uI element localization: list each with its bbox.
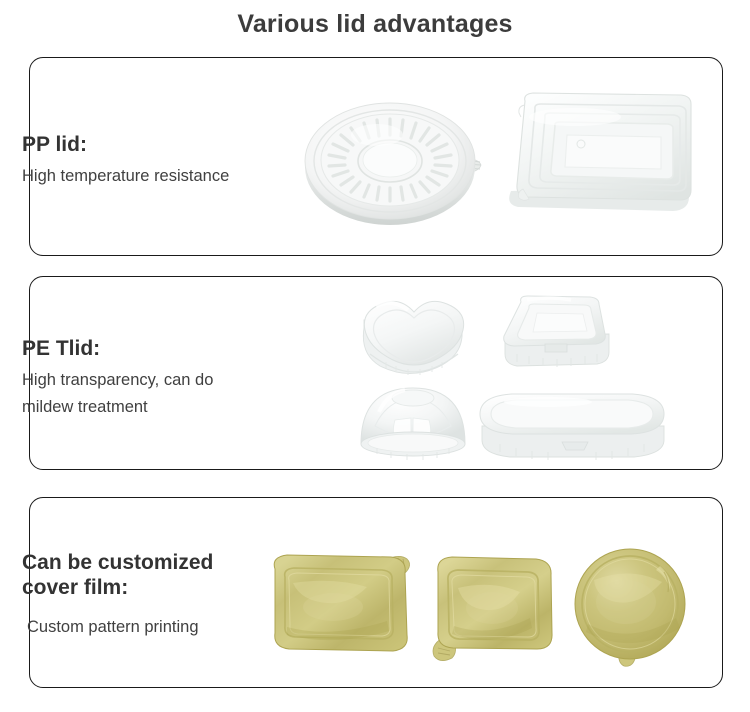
round-gold-foil-lid-image — [568, 546, 700, 671]
page-title: Various lid advantages — [0, 8, 750, 40]
card-pp-lid-description: High temperature resistance — [22, 163, 229, 190]
card-cover-film-text: Can be customized cover film: Custom pat… — [22, 550, 213, 641]
card-cover-film-heading: Can be customized cover film: — [22, 550, 213, 600]
card-pp-lid-heading: PP lid: — [22, 132, 229, 157]
card-pe-tlid-heading: PE Tlid: — [22, 336, 213, 361]
round-pp-lid-image — [305, 95, 495, 230]
square-pet-lid-image — [497, 292, 617, 384]
card-pe-tlid-text: PE Tlid: High transparency, can do milde… — [22, 336, 213, 421]
card-cover-film-description: Custom pattern printing — [22, 614, 213, 641]
dome-pet-lid-image — [355, 382, 470, 462]
card-pe-tlid-description: High transparency, can do mildew treatme… — [22, 367, 213, 421]
card-pp-lid-text: PP lid: High temperature resistance — [22, 132, 229, 190]
rectangular-pp-lid-image — [495, 85, 700, 230]
oval-pet-lid-image — [478, 388, 668, 468]
rectangular-gold-foil-lid-image — [263, 549, 418, 654]
heart-shaped-pet-lid-image — [352, 292, 477, 384]
infographic-page: Various lid advantages PP lid: High temp… — [0, 0, 750, 712]
square-gold-foil-lid-image — [428, 552, 563, 670]
